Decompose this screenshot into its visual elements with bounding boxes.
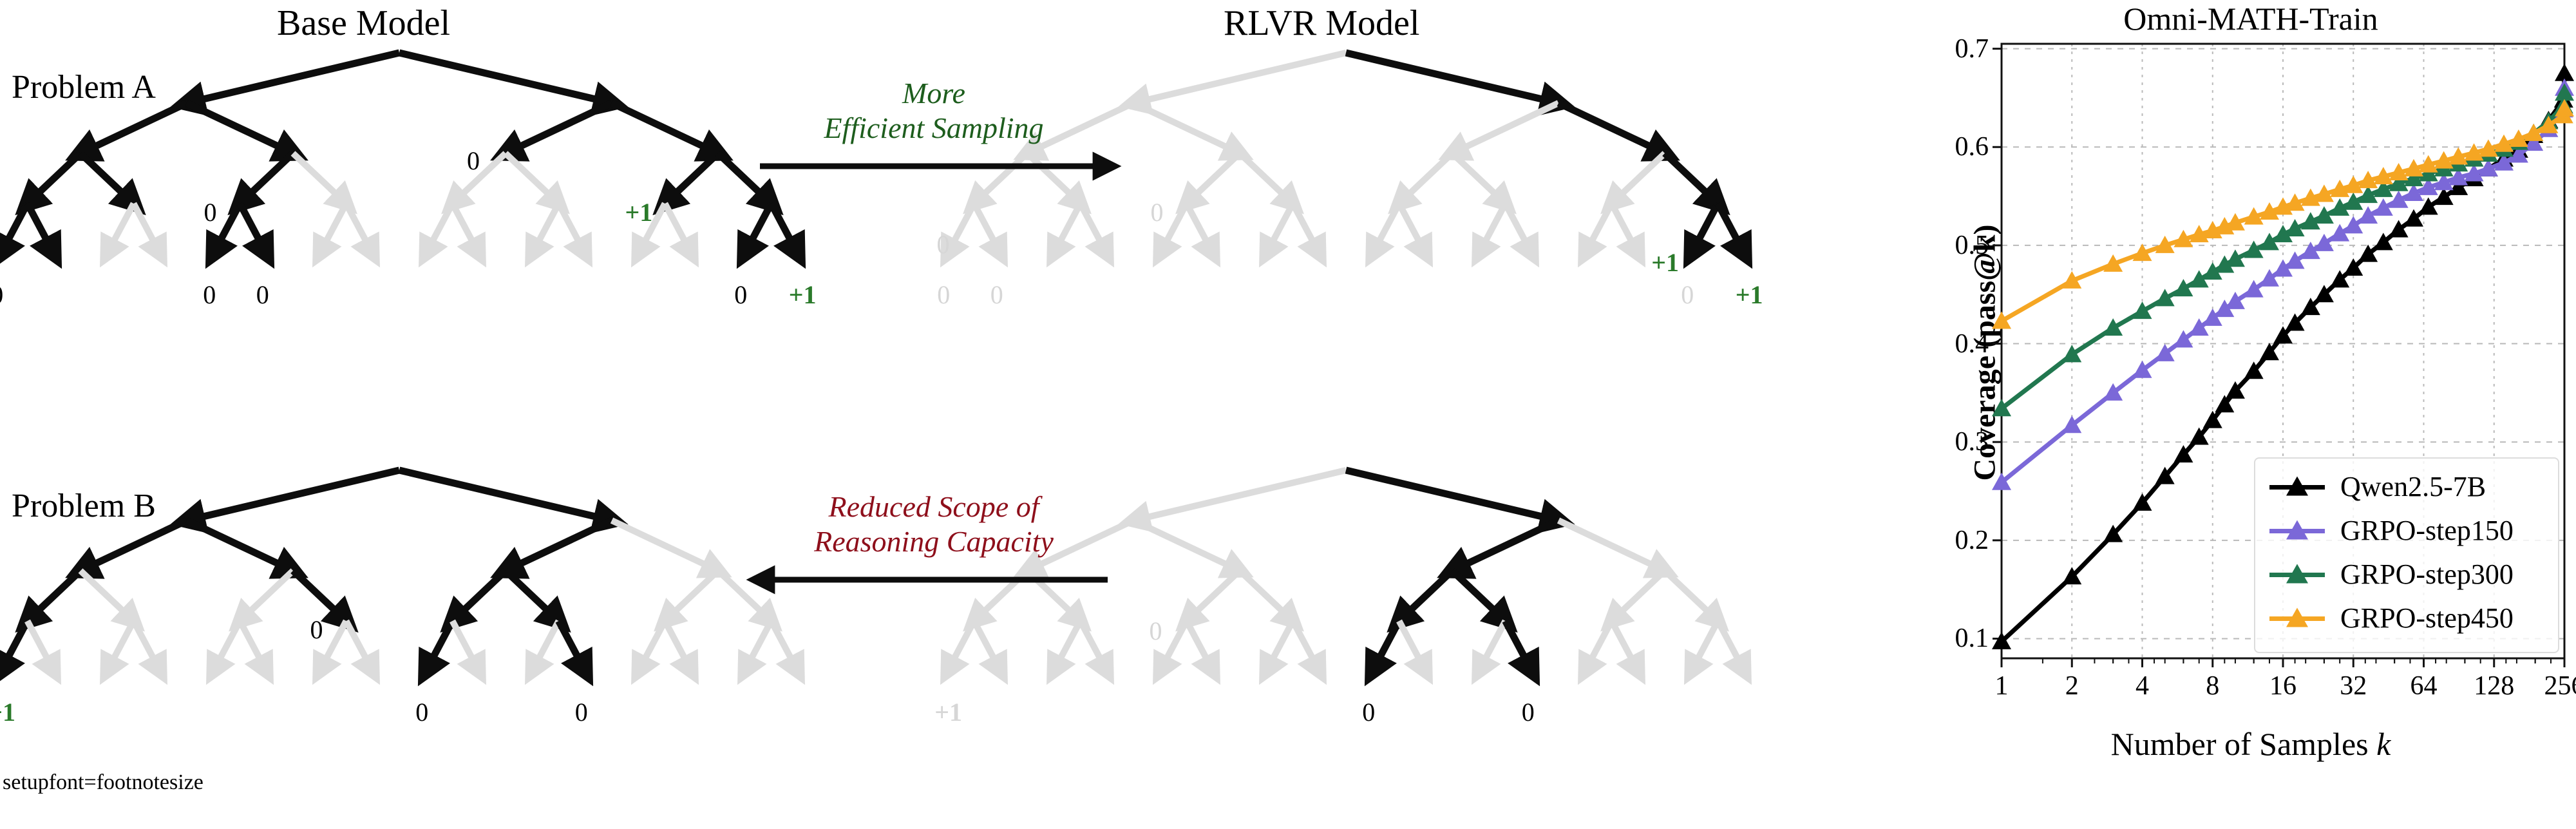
tree-branch [1506, 204, 1532, 254]
tree-branch [293, 571, 346, 621]
tree-branch [638, 621, 665, 671]
tree-branch [1054, 204, 1080, 254]
reward-label-zero: 0 [575, 700, 588, 725]
tree-branch [559, 204, 585, 254]
tree-branch [1452, 153, 1506, 204]
legend-triangle-marker [2286, 564, 2308, 584]
tree-branch [1372, 204, 1399, 254]
tree-branch [506, 571, 559, 621]
chart-series-marker [2315, 234, 2334, 251]
legend-triangle-marker [2286, 477, 2308, 496]
tree-branch [80, 520, 187, 571]
tree-branch [612, 520, 718, 571]
tree-branch [1479, 621, 1505, 671]
legend-line-swatch [2269, 529, 2325, 533]
reward-label-plus-one: +1 [0, 700, 15, 725]
chart-series-marker [2062, 345, 2081, 362]
tree-branch [974, 153, 1028, 204]
tree-branch [1399, 153, 1453, 204]
tree-branch [1612, 153, 1665, 204]
tree-branch [772, 204, 798, 254]
legend-item[interactable]: Qwen2.5-7B [2269, 473, 2486, 501]
tree-branch [1133, 53, 1346, 103]
tree-branch [213, 621, 240, 671]
tree-branch [1187, 204, 1213, 254]
tree-branch [319, 621, 346, 671]
tree-branch [1081, 621, 1107, 671]
transition-line-1: More [760, 76, 1108, 111]
transition-line-2: Efficient Sampling [760, 111, 1108, 146]
tree-branch [1399, 571, 1453, 621]
reward-label-plus-one: +1 [1736, 282, 1763, 308]
coverage-chart-panel: Omni-MATH-Train Coverage (pass@k) Number… [1926, 0, 2576, 829]
tree-branch [1187, 571, 1240, 621]
reward-label-zero: 0 [1151, 200, 1164, 225]
footnote-text: setupfont=footnotesize [3, 772, 204, 794]
legend-item[interactable]: GRPO-step450 [2269, 604, 2514, 633]
tree-branch [107, 204, 133, 254]
reward-label-zero: 0 [310, 617, 323, 643]
reward-label-zero: 0 [990, 282, 1003, 308]
tree-branch [974, 621, 1001, 671]
tree-branch [506, 153, 559, 204]
tree-branch [1558, 103, 1665, 153]
reward-label-plus-one: +1 [934, 700, 962, 725]
tree-branch [1558, 520, 1665, 571]
legend-line-swatch [2269, 573, 2325, 577]
chart-legend: Qwen2.5-7BGRPO-step150GRPO-step300GRPO-s… [2254, 457, 2559, 653]
tree-branch [1240, 571, 1293, 621]
tree-branch [1160, 621, 1186, 671]
tree-branch [665, 571, 719, 621]
tree-branch [1133, 470, 1346, 520]
tree-branch [1160, 204, 1186, 254]
legend-label: GRPO-step450 [2340, 604, 2514, 633]
tree-branch [1027, 153, 1081, 204]
chart-series-marker [2155, 289, 2175, 306]
reward-label-zero: 0 [1522, 700, 1535, 725]
tree-branch [28, 204, 54, 254]
tree-branch [346, 621, 373, 671]
tree-branch [240, 204, 267, 254]
chart-series-marker [2103, 318, 2123, 336]
tree-branch [1612, 571, 1665, 621]
tree-branch [1452, 520, 1558, 571]
tree-branch [974, 204, 1001, 254]
reward-label-zero: 0 [1681, 282, 1694, 308]
tree-branch [1452, 103, 1558, 153]
reward-label-zero: 0 [204, 200, 217, 225]
reward-label-zero: 0 [1362, 700, 1375, 725]
tree-branch [559, 621, 585, 671]
legend-triangle-marker [2286, 520, 2308, 540]
tree-branch [1718, 621, 1745, 671]
tree-branch [1612, 204, 1638, 254]
tree-branch [718, 153, 772, 204]
tree-branch [453, 621, 479, 671]
reward-label-zero: 0 [203, 282, 216, 308]
tree-branch [1479, 204, 1505, 254]
tree-branch [240, 153, 294, 204]
tree-branch [1346, 470, 1558, 520]
tree-branch [399, 470, 612, 520]
tree-branch [744, 621, 771, 671]
tree-branch [28, 571, 81, 621]
reward-label-zero: 0 [415, 700, 428, 725]
tree-branch [80, 571, 134, 621]
column-header-base-model: Base Model [277, 5, 450, 41]
tree-branch [1691, 204, 1718, 254]
tree-branch [1081, 204, 1107, 254]
tree-branch [187, 53, 399, 103]
tree-branch [187, 520, 293, 571]
transition-line-2: Reasoning Capacity [760, 524, 1108, 559]
tree-branch [453, 571, 506, 621]
legend-item[interactable]: GRPO-step150 [2269, 517, 2514, 545]
tree-branch [1054, 621, 1080, 671]
tree-branch [1346, 53, 1558, 103]
row-label-problem-b: Problem B [12, 490, 156, 523]
tree-branch [947, 621, 974, 671]
legend-label: GRPO-step300 [2340, 560, 2514, 589]
tree-branch [1612, 621, 1638, 671]
tree-branch [612, 103, 718, 153]
tree-branch [346, 204, 373, 254]
tree-branch [1585, 621, 1611, 671]
tree-branch [426, 621, 452, 671]
tree-branch [1293, 204, 1320, 254]
legend-triangle-marker [2286, 608, 2308, 627]
tree-branch [134, 204, 160, 254]
reward-label-zero: 0 [467, 148, 480, 174]
chart-series-marker [1992, 311, 2011, 329]
tree-branch [1266, 204, 1293, 254]
tree-branch [426, 204, 452, 254]
column-header-rlvr-model: RLVR Model [1224, 5, 1419, 41]
tree-branch [947, 204, 974, 254]
transition-label-more-efficient-sampling: More Efficient Sampling [760, 76, 1108, 146]
tree-branch [1133, 520, 1240, 571]
tree-branch [772, 621, 798, 671]
tree-branch [506, 103, 612, 153]
tree-branch [1665, 153, 1718, 204]
tree-branch [1, 621, 27, 671]
reward-label-zero: 0 [0, 282, 3, 308]
chart-series-marker [2173, 279, 2193, 296]
tree-branch [1133, 103, 1240, 153]
tree-branch [1187, 621, 1213, 671]
tree-branch [1585, 204, 1611, 254]
reward-label-plus-one: +1 [789, 282, 817, 308]
reward-label-zero: 0 [734, 282, 747, 308]
chart-series-marker [2286, 251, 2305, 269]
tree-branch [1266, 621, 1293, 671]
legend-line-swatch [2269, 485, 2325, 490]
reward-label-zero: 0 [937, 232, 950, 258]
tree-branch [213, 204, 240, 254]
transition-label-reduced-scope: Reduced Scope of Reasoning Capacity [760, 490, 1108, 560]
chart-plot-area [1926, 0, 2576, 829]
tree-branch [1187, 153, 1240, 204]
legend-label: Qwen2.5-7B [2340, 473, 2486, 501]
tree-branch [293, 153, 346, 204]
tree-branch [187, 103, 293, 153]
tree-branch [453, 204, 479, 254]
legend-line-swatch [2269, 616, 2325, 621]
chart-series-marker [2226, 292, 2245, 309]
legend-item[interactable]: GRPO-step300 [2269, 560, 2514, 589]
legend-label: GRPO-step150 [2340, 517, 2514, 545]
tree-branch [665, 621, 692, 671]
tree-branch [80, 153, 134, 204]
tree-branch [1399, 621, 1426, 671]
tree-branch [665, 204, 692, 254]
reward-label-zero: 0 [1150, 618, 1162, 644]
tree-branch [80, 103, 187, 153]
tree-branch [187, 470, 399, 520]
tree-branch [1506, 621, 1532, 671]
reward-label-plus-one: +1 [1651, 250, 1679, 276]
tree-branch [1293, 621, 1320, 671]
reward-label-zero: 0 [937, 282, 950, 308]
tree-branch [532, 204, 558, 254]
tree-branch [506, 520, 612, 571]
tree-branch [1372, 621, 1399, 671]
tree-branch [1718, 204, 1745, 254]
tree-branch [319, 204, 346, 254]
tree-branch [134, 621, 160, 671]
tree-branch [1240, 153, 1293, 204]
tree-branch [1399, 204, 1426, 254]
transition-line-1: Reduced Scope of [760, 490, 1108, 524]
tree-branch [399, 53, 612, 103]
tree-branch [1691, 621, 1718, 671]
tree-branch [28, 621, 54, 671]
tree-branch [28, 153, 81, 204]
tree-branch [1, 204, 27, 254]
row-label-problem-a: Problem A [12, 71, 156, 104]
tree-branch [744, 204, 771, 254]
tree-branch [1665, 571, 1718, 621]
tree-branch [240, 571, 294, 621]
reward-label-zero: 0 [256, 282, 269, 308]
tree-branch [532, 621, 558, 671]
tree-branch [1452, 571, 1506, 621]
chart-series-marker [2133, 301, 2152, 319]
tree-branch [107, 621, 133, 671]
tree-branch [665, 153, 719, 204]
tree-diagram-panel: Base Model RLVR Model Problem A Problem … [0, 0, 1926, 829]
tree-branch [240, 621, 267, 671]
reward-label-plus-one: +1 [625, 200, 653, 225]
